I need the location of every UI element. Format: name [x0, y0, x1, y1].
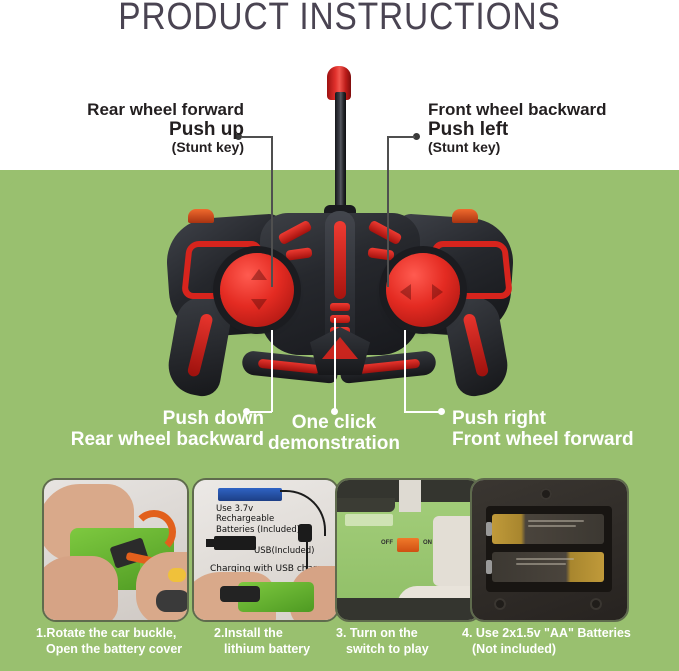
step-4-caption: 4. Use 2x1.5v "AA" Batteries (Not includ…	[462, 626, 631, 657]
step-3-caption-line1: 3. Turn on the	[336, 626, 418, 640]
photo1-hand-bottom	[42, 556, 118, 622]
photo3-power-switch[interactable]	[397, 538, 419, 552]
arrow-down-icon	[251, 299, 267, 310]
photo2-note-line1: Use 3.7v	[216, 504, 253, 514]
callout-tr-line1: Front wheel backward	[428, 100, 628, 119]
right-joystick-button[interactable]	[386, 253, 460, 327]
step-1-caption: 1.Rotate the car buckle, Open the batter…	[36, 626, 182, 657]
step-1-caption-line1: 1.Rotate the car buckle,	[36, 626, 176, 640]
product-instructions-page: PRODUCT INSTRUCTIONS	[0, 0, 679, 671]
step-photo-3: OFF ON	[335, 478, 482, 622]
photo4-screw-bottom-right	[590, 598, 602, 610]
spine-notch-2	[330, 315, 350, 323]
photo4-battery-print-2	[528, 525, 576, 527]
photo2-lithium-battery	[218, 488, 282, 501]
left-joystick-button[interactable]	[220, 253, 294, 327]
callout-rear-wheel-forward: Rear wheel forward Push up (Stunt key)	[72, 100, 244, 156]
page-title: PRODUCT INSTRUCTIONS	[41, 0, 639, 39]
step-photo-strip: Use 3.7v Rechargeable Batteries (Include…	[0, 478, 679, 671]
step-2-caption-line2: lithium battery	[214, 642, 310, 658]
antenna-rod-icon	[335, 92, 346, 217]
photo4-screw-top	[540, 488, 552, 500]
leader-line-center-v	[334, 318, 336, 411]
photo2-note-line2: Rechargeable	[216, 514, 274, 524]
callout-bl-line1: Push down	[44, 408, 264, 429]
photo3-green-panel	[345, 514, 393, 526]
left-arm-red-stripe	[187, 313, 214, 378]
photo3-switch-on-label: ON	[423, 540, 432, 546]
callout-tr-line3: (Stunt key)	[428, 140, 628, 156]
callout-tl-line1: Rear wheel forward	[72, 100, 244, 119]
callout-br-line1: Push right	[452, 408, 672, 429]
photo1-wheel	[156, 590, 189, 612]
photo3-switch-off-label: OFF	[381, 540, 393, 546]
photo3-dark-top-left	[337, 498, 395, 512]
photo2-battery-note: Use 3.7v Rechargeable Batteries (Include…	[216, 504, 300, 535]
spine-notch-1	[330, 303, 350, 311]
step-photo-4	[470, 478, 629, 622]
leader-line-top-right-h	[387, 136, 415, 138]
photo4-aa-battery-1	[492, 514, 604, 544]
leader-line-top-left-v	[271, 136, 273, 287]
callout-bc-line2: demonstration	[258, 433, 410, 454]
callout-front-wheel-forward: Push right Front wheel forward	[452, 408, 672, 451]
demo-triangle-icon	[322, 337, 358, 359]
step-4-caption-line2: (Not included)	[462, 642, 631, 658]
step-photo-1	[42, 478, 189, 622]
leader-line-top-left-h	[242, 136, 272, 138]
step-2-caption: 2.Install the lithium battery	[214, 626, 310, 657]
photo2-usb-connector	[214, 536, 256, 550]
step-3-caption: 3. Turn on the switch to play	[336, 626, 429, 657]
photo4-battery-print-1	[528, 520, 584, 522]
callout-rear-wheel-backward: Push down Rear wheel backward	[44, 408, 264, 451]
photo4-battery-print-3	[516, 558, 574, 560]
photo4-terminal-1	[486, 522, 492, 536]
step-3-caption-line2: switch to play	[336, 642, 429, 658]
step-1-caption-line2: Open the battery cover	[36, 642, 182, 658]
left-shoulder-trim	[188, 209, 214, 223]
callout-one-click-demonstration: One click demonstration	[258, 412, 410, 455]
callout-br-line2: Front wheel forward	[452, 429, 672, 450]
leader-line-bottom-left-v	[271, 330, 273, 412]
photo2-usb-note: USB(Included)	[254, 546, 314, 556]
photo4-screw-bottom-left	[494, 598, 506, 610]
right-arm-red-stripe	[462, 313, 489, 378]
photo4-aa-battery-2	[492, 552, 604, 582]
arrow-left-icon	[400, 284, 411, 300]
lower-right-red-stripe	[358, 359, 421, 374]
arrow-up-icon	[251, 269, 267, 280]
leader-line-top-right-v	[387, 136, 389, 287]
callout-tr-line2: Push left	[428, 119, 628, 140]
remote-controller[interactable]	[150, 205, 530, 405]
leader-line-bottom-right-v	[404, 330, 406, 412]
photo4-terminal-2	[486, 560, 492, 574]
step-photo-2: Use 3.7v Rechargeable Batteries (Include…	[192, 478, 339, 622]
callout-tl-line3: (Stunt key)	[72, 140, 244, 156]
callout-front-wheel-backward: Front wheel backward Push left (Stunt ke…	[428, 100, 628, 156]
photo4-battery-print-4	[516, 563, 566, 565]
center-red-spine	[334, 221, 346, 299]
callout-bl-line2: Rear wheel backward	[44, 429, 264, 450]
callout-tl-line2: Push up	[72, 119, 244, 140]
lower-left-red-stripe	[258, 359, 321, 374]
photo1-rotate-arrow-icon	[132, 510, 176, 554]
photo1-yellow-knob	[168, 568, 186, 582]
right-shoulder-trim	[452, 209, 478, 223]
callout-bc-line1: One click	[258, 412, 410, 433]
photo2-note-line3: Batteries (Included)	[216, 525, 300, 535]
photo4-battery-bay	[486, 506, 612, 592]
leader-dot-bottom-right	[438, 408, 445, 415]
step-4-caption-line1: 4. Use 2x1.5v "AA" Batteries	[462, 626, 631, 640]
photo3-dark-bottom-band	[337, 598, 480, 620]
photo2-black-tool	[220, 586, 260, 602]
photo3-white-column	[399, 480, 421, 512]
arrow-right-icon	[432, 284, 443, 300]
step-2-caption-line1: 2.Install the	[214, 626, 283, 640]
